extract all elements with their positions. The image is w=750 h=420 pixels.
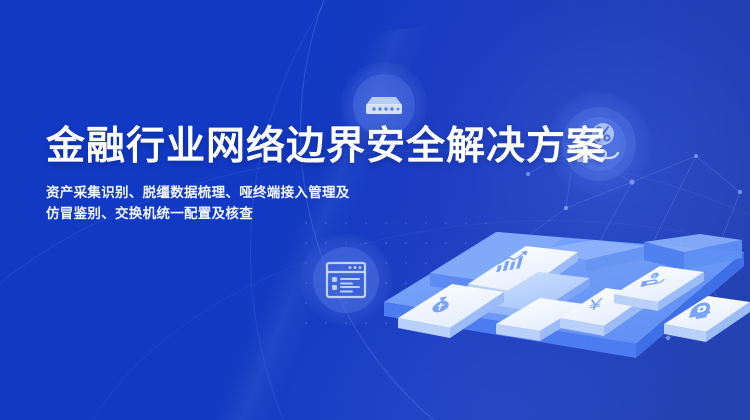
subtitle-line-2: 仿冒鉴别、交换机统一配置及核查 [46, 203, 606, 224]
subtitle-line-1: 资产采集识别、脱缰数据梳理、哑终端接入管理及 [46, 182, 606, 203]
banner-root: ¥ [0, 0, 750, 420]
text-block: 金融行业网络边界安全解决方案 资产采集识别、脱缰数据梳理、哑终端接入管理及 仿冒… [46, 124, 606, 224]
server-icon [362, 91, 406, 119]
page-title: 金融行业网络边界安全解决方案 [46, 124, 606, 170]
document-list-icon [324, 260, 368, 300]
